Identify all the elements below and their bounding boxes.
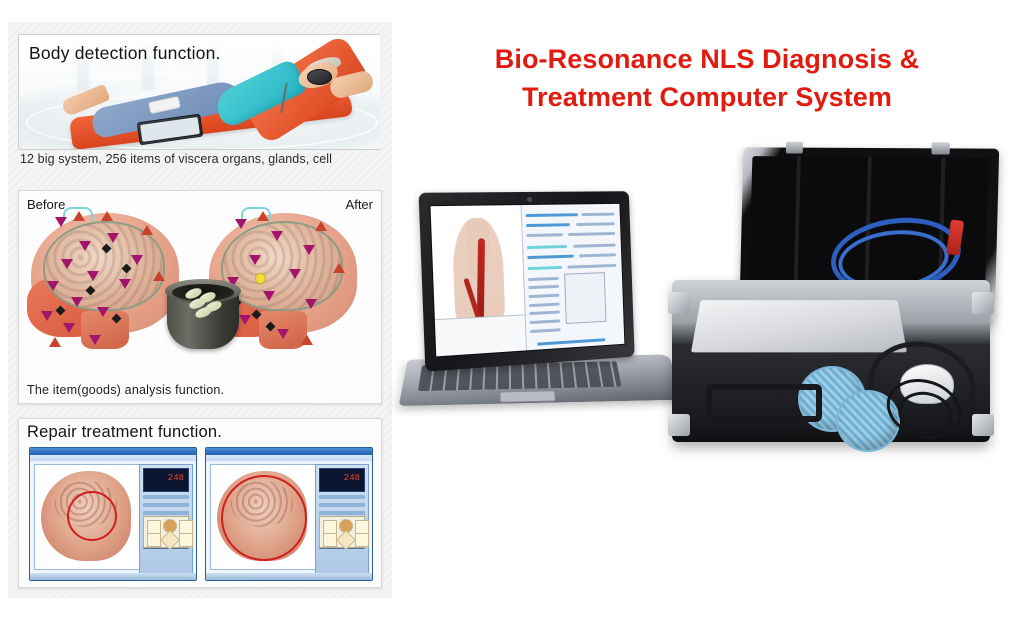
title-line-1: Bio-Resonance NLS Diagnosis & bbox=[410, 40, 1004, 78]
panel3-headline: Repair treatment function. bbox=[27, 423, 222, 442]
brain-scan-before bbox=[27, 211, 187, 361]
panel-item-analysis: Before After bbox=[18, 190, 382, 404]
laptop-touchpad bbox=[500, 391, 556, 403]
headphone-icon bbox=[307, 69, 333, 85]
body-detection-photo: Body detection function. bbox=[18, 34, 380, 150]
panel-body-detection: Body detection function. 12 big system, … bbox=[18, 34, 380, 174]
laptop-lid bbox=[419, 191, 635, 372]
diagnostic-software-ui bbox=[431, 204, 625, 357]
title-line-2: Treatment Computer System bbox=[410, 78, 1004, 116]
case-handle bbox=[706, 384, 822, 422]
focus-ring-small bbox=[67, 491, 117, 541]
panel2-caption: The item(goods) analysis function. bbox=[27, 383, 224, 397]
label-before: Before bbox=[27, 197, 65, 212]
item-test-chamber bbox=[165, 275, 241, 351]
webcam-icon bbox=[526, 196, 533, 203]
laptop-product-photo bbox=[404, 192, 694, 417]
carrying-case-product-photo bbox=[672, 148, 1008, 448]
highlight-dot bbox=[255, 273, 266, 284]
laptop-screen bbox=[429, 203, 625, 358]
anatomy-viewer bbox=[431, 205, 528, 356]
lcd-value-b: 248 bbox=[344, 473, 360, 483]
panel-repair-treatment: Repair treatment function. 248 bbox=[18, 418, 382, 588]
equipment-tray bbox=[691, 300, 907, 352]
page-title: Bio-Resonance NLS Diagnosis & Treatment … bbox=[410, 40, 1004, 117]
poster-canvas: Body detection function. 12 big system, … bbox=[0, 0, 1024, 624]
lcd-value-a: 248 bbox=[168, 473, 184, 483]
panel1-headline: Body detection function. bbox=[29, 43, 221, 64]
panel1-caption: 12 big system, 256 items of viscera orga… bbox=[20, 152, 332, 166]
label-after: After bbox=[346, 197, 373, 212]
feature-collage: Body detection function. 12 big system, … bbox=[8, 22, 392, 598]
results-list-panel bbox=[522, 204, 625, 350]
case-bottom bbox=[672, 280, 990, 442]
treatment-window-a: 248 bbox=[29, 447, 197, 581]
treatment-window-b: 248 bbox=[205, 447, 373, 581]
focus-ring-large bbox=[221, 475, 307, 561]
